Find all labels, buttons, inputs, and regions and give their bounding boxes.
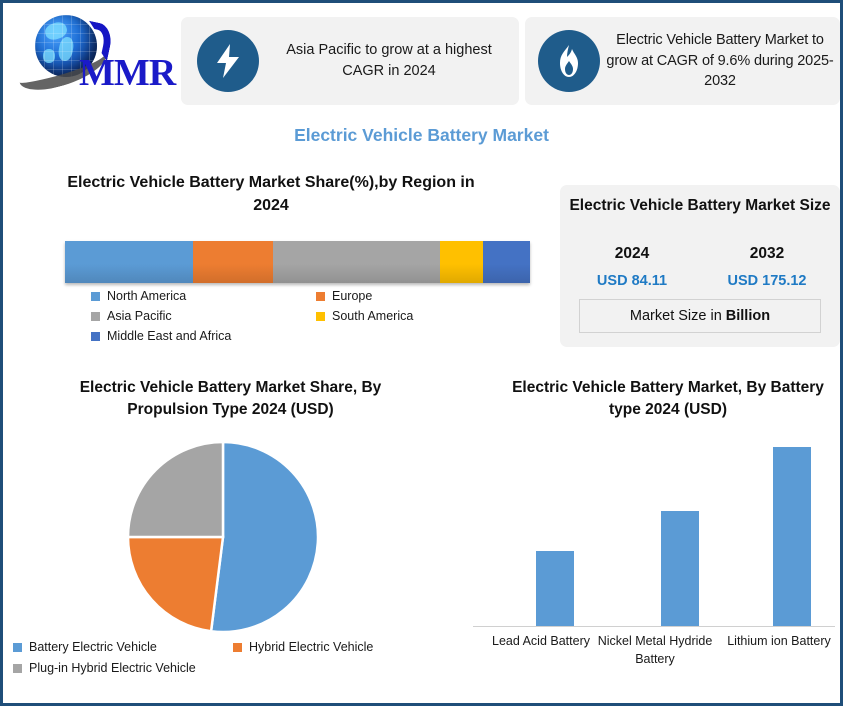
region-segment bbox=[193, 241, 273, 283]
region-chart-title: Electric Vehicle Battery Market Share(%)… bbox=[61, 171, 481, 217]
region-segment bbox=[273, 241, 440, 283]
legend-label: Hybrid Electric Vehicle bbox=[249, 640, 373, 654]
bar-chart-title: Electric Vehicle Battery Market, By Batt… bbox=[503, 377, 833, 422]
bar-label: Lithium ion Battery bbox=[715, 633, 843, 651]
legend-item: Europe bbox=[316, 289, 511, 303]
market-size-value-start: USD 84.11 bbox=[577, 273, 687, 289]
region-segment bbox=[483, 241, 530, 283]
legend-swatch bbox=[91, 292, 100, 301]
legend-label: Battery Electric Vehicle bbox=[29, 640, 157, 654]
legend-item: Hybrid Electric Vehicle bbox=[233, 640, 433, 654]
legend-item: Middle East and Africa bbox=[91, 329, 316, 343]
legend-item: Battery Electric Vehicle bbox=[13, 640, 233, 654]
legend-swatch bbox=[13, 664, 22, 673]
market-size-box: Electric Vehicle Battery Market Size 202… bbox=[560, 185, 840, 347]
legend-swatch bbox=[233, 643, 242, 652]
bar bbox=[773, 447, 811, 626]
legend-label: Middle East and Africa bbox=[107, 329, 231, 343]
market-size-unit-value: Billion bbox=[726, 308, 770, 324]
market-size-value-end: USD 175.12 bbox=[712, 273, 822, 289]
bar-chart-category-labels: Lead Acid BatteryNickel Metal Hydride Ba… bbox=[465, 633, 843, 683]
region-segment bbox=[440, 241, 483, 283]
bar-label: Lead Acid Battery bbox=[471, 633, 611, 651]
bar-label: Nickel Metal Hydride Battery bbox=[595, 633, 715, 668]
legend-item: Asia Pacific bbox=[91, 309, 316, 323]
legend-label: Asia Pacific bbox=[107, 309, 172, 323]
legend-label: South America bbox=[332, 309, 413, 323]
pie-slice bbox=[128, 442, 223, 537]
flame-icon bbox=[538, 30, 600, 92]
page-title: Electric Vehicle Battery Market bbox=[3, 125, 840, 146]
market-size-title: Electric Vehicle Battery Market Size bbox=[568, 195, 832, 216]
legend-label: North America bbox=[107, 289, 186, 303]
header-card-cagr-region: Asia Pacific to grow at a highest CAGR i… bbox=[181, 17, 519, 105]
region-segment bbox=[65, 241, 193, 283]
legend-label: Plug-in Hybrid Electric Vehicle bbox=[29, 661, 196, 675]
legend-item: North America bbox=[91, 289, 316, 303]
header-card-1-text: Asia Pacific to grow at a highest CAGR i… bbox=[259, 40, 519, 81]
infographic-page: MMR Asia Pacific to grow at a highest CA… bbox=[0, 0, 843, 706]
battery-type-bar-chart bbox=[473, 433, 835, 627]
brand-name: MMR bbox=[79, 51, 175, 95]
pie-slice bbox=[211, 442, 318, 632]
pie-chart-title: Electric Vehicle Battery Market Share, B… bbox=[43, 377, 418, 422]
header-card-cagr-market: Electric Vehicle Battery Market to grow … bbox=[525, 17, 840, 105]
legend-item: South America bbox=[316, 309, 511, 323]
legend-label: Europe bbox=[332, 289, 372, 303]
lightning-bolt-icon bbox=[197, 30, 259, 92]
header: MMR Asia Pacific to grow at a highest CA… bbox=[3, 3, 840, 115]
market-size-unit: Market Size in Billion bbox=[579, 299, 821, 333]
market-size-unit-prefix: Market Size in bbox=[630, 308, 722, 324]
propulsion-type-pie-chart bbox=[125, 439, 321, 635]
bar-chart-plot-area bbox=[473, 435, 835, 627]
market-size-year-end: 2032 bbox=[712, 245, 822, 263]
bar bbox=[661, 511, 699, 626]
header-card-2-text: Electric Vehicle Battery Market to grow … bbox=[600, 30, 840, 92]
mmr-logo: MMR bbox=[17, 9, 172, 104]
pie-slice bbox=[128, 537, 223, 631]
region-chart-legend: North AmericaEuropeAsia PacificSouth Ame… bbox=[91, 289, 511, 343]
legend-swatch bbox=[316, 292, 325, 301]
bar bbox=[536, 551, 574, 626]
legend-item: Plug-in Hybrid Electric Vehicle bbox=[13, 661, 233, 675]
market-size-year-start: 2024 bbox=[577, 245, 687, 263]
pie-chart-legend: Battery Electric VehicleHybrid Electric … bbox=[13, 640, 433, 675]
legend-swatch bbox=[316, 312, 325, 321]
legend-swatch bbox=[91, 312, 100, 321]
legend-swatch bbox=[13, 643, 22, 652]
region-stacked-bar bbox=[65, 241, 530, 283]
legend-swatch bbox=[91, 332, 100, 341]
